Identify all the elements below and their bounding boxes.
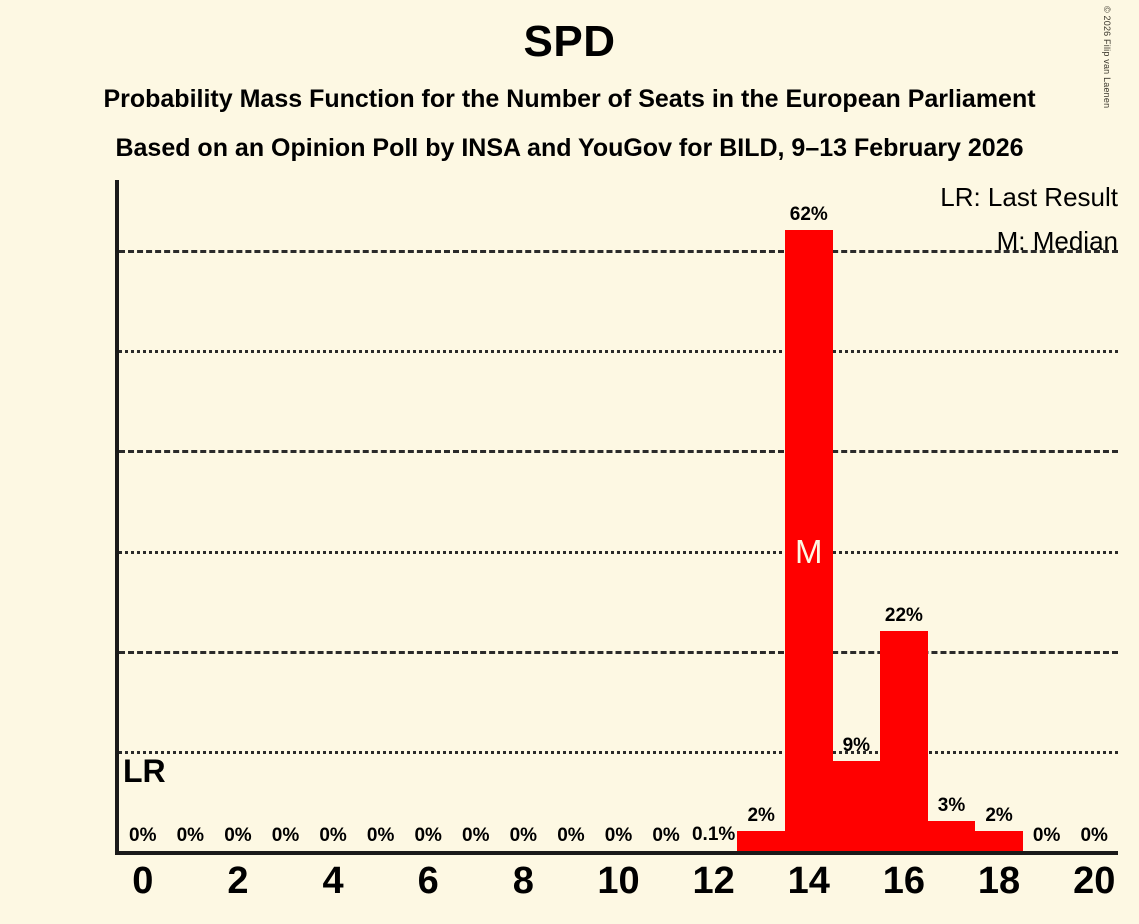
bar-seat-16: 22% <box>880 180 928 851</box>
bar-value-label: 0% <box>462 826 489 845</box>
bar-seat-15: 9% <box>833 180 881 851</box>
bar-value-label: 9% <box>843 736 870 755</box>
bar-seat-12: 0.1% <box>690 180 738 851</box>
bar-seat-5: 0% <box>357 180 405 851</box>
bar-value-label: 62% <box>790 205 828 224</box>
bar-value-label: 0% <box>652 826 679 845</box>
bar-value-label: 0% <box>510 826 537 845</box>
bar-value-label: 0% <box>129 826 156 845</box>
page-title: SPD <box>0 20 1139 64</box>
plot-area: 20%40%60% 0%0%0%0%0%0%0%0%0%0%0%0%0.1%2%… <box>119 180 1118 851</box>
x-axis-tick-label: 10 <box>597 862 639 900</box>
bar-seat-6: 0% <box>404 180 452 851</box>
bar-seat-17: 3% <box>928 180 976 851</box>
median-marker: M <box>795 535 823 568</box>
bar-rect <box>928 821 976 851</box>
bar-seat-7: 0% <box>452 180 500 851</box>
bar-value-label: 0% <box>605 826 632 845</box>
bar-value-label: 0% <box>319 826 346 845</box>
bar-value-label: 0% <box>224 826 251 845</box>
bar-value-label: 0% <box>1033 826 1060 845</box>
bar-seat-13: 2% <box>737 180 785 851</box>
bar-seat-9: 0% <box>547 180 595 851</box>
x-axis-tick-label: 20 <box>1073 862 1115 900</box>
x-axis-tick-label: 6 <box>418 862 439 900</box>
x-axis-tick-label: 8 <box>513 862 534 900</box>
x-axis-tick-label: 0 <box>132 862 153 900</box>
bar-seat-11: 0% <box>642 180 690 851</box>
x-axis-tick-label: 18 <box>978 862 1020 900</box>
bar-seat-20: 0% <box>1070 180 1118 851</box>
bar-seat-1: 0% <box>167 180 215 851</box>
bar-rect <box>737 831 785 851</box>
bar-value-label: 0% <box>177 826 204 845</box>
bar-seat-19: 0% <box>1023 180 1071 851</box>
bar-value-label: 0% <box>272 826 299 845</box>
bar-value-label: 0% <box>414 826 441 845</box>
bar-value-label: 3% <box>938 796 965 815</box>
bar-value-label: 2% <box>985 806 1012 825</box>
bar-rect <box>833 761 881 851</box>
chart-subtitle-primary: Probability Mass Function for the Number… <box>0 87 1139 112</box>
x-axis-tick-label: 12 <box>693 862 735 900</box>
bar-value-label: 0% <box>557 826 584 845</box>
bar-value-label: 0% <box>1080 826 1107 845</box>
x-axis-tick-label: 2 <box>227 862 248 900</box>
last-result-marker: LR <box>123 755 166 787</box>
bar-seat-4: 0% <box>309 180 357 851</box>
bar-rect <box>880 631 928 851</box>
copyright-notice: © 2026 Filip van Laenen <box>1102 6 1112 108</box>
bar-value-label: 0% <box>367 826 394 845</box>
bar-value-label: 0.1% <box>692 825 735 844</box>
bar-seat-18: 2% <box>975 180 1023 851</box>
x-axis-line <box>115 851 1118 855</box>
bar-seat-2: 0% <box>214 180 262 851</box>
bar-seat-10: 0% <box>595 180 643 851</box>
x-axis-tick-label: 16 <box>883 862 925 900</box>
chart-subtitle-secondary: Based on an Opinion Poll by INSA and You… <box>0 136 1139 161</box>
bar-seat-8: 0% <box>500 180 548 851</box>
bar-rect <box>975 831 1023 851</box>
bar-value-label: 2% <box>747 806 774 825</box>
bar-seat-3: 0% <box>262 180 310 851</box>
bar-seat-0: 0% <box>119 180 167 851</box>
bar-seat-14: 62%M <box>785 180 833 851</box>
x-axis-tick-label: 14 <box>788 862 830 900</box>
bar-value-label: 22% <box>885 606 923 625</box>
x-axis-tick-label: 4 <box>322 862 343 900</box>
